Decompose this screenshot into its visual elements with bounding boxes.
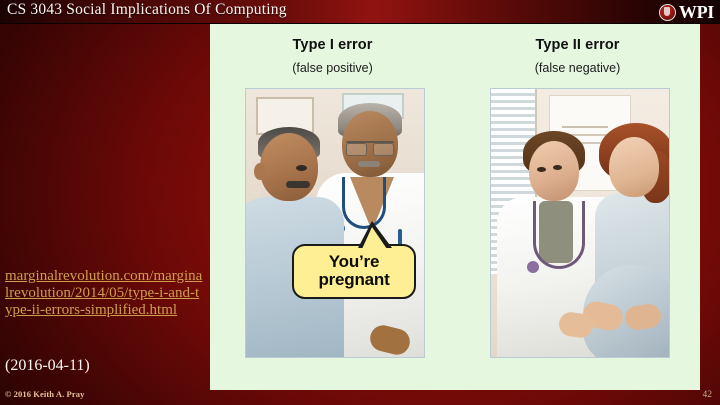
doctor-eye	[553, 165, 562, 170]
patient-ear	[254, 163, 266, 180]
column-subtitle: (false negative)	[455, 61, 700, 75]
photo-type-ii-error: You’re not pregnant	[490, 88, 670, 358]
copyright-notice: © 2016 Keith A. Pray	[5, 389, 84, 399]
slide: CS 3043 Social Implications Of Computing…	[0, 0, 720, 405]
source-date: (2016-04-11)	[5, 357, 90, 375]
patient-head	[609, 137, 659, 197]
column-subtitle: (false positive)	[210, 61, 455, 75]
patient-head	[260, 133, 318, 201]
source-link[interactable]: marginalrevolution.com/marginalrevolutio…	[5, 268, 205, 320]
wpi-logo-text: WPI	[679, 3, 714, 21]
wpi-seal-icon	[659, 4, 676, 21]
patient-eye	[296, 165, 307, 171]
doctor-head	[529, 141, 579, 201]
stethoscope-bell-icon	[527, 261, 539, 273]
content-panel: Type I error (false positive)	[210, 24, 700, 390]
patient-mustache	[286, 181, 310, 188]
column-title: Type I error	[210, 37, 455, 53]
page-number: 42	[703, 390, 713, 400]
column-type-i-error: Type I error (false positive)	[210, 24, 455, 390]
speech-bubble-text: You’re pregnant	[318, 252, 389, 289]
slide-header: CS 3043 Social Implications Of Computing…	[0, 0, 720, 24]
doctor-eye	[537, 167, 546, 172]
pen-icon	[398, 229, 402, 245]
speech-bubble-false-positive: You’re pregnant	[292, 244, 416, 299]
doctor-mustache	[358, 161, 380, 167]
stethoscope-icon	[533, 201, 585, 269]
wpi-logo: WPI	[659, 1, 714, 23]
column-title: Type II error	[455, 37, 700, 53]
page-title: CS 3043 Social Implications Of Computing	[7, 1, 287, 19]
column-type-ii-error: Type II error (false negative)	[455, 24, 700, 390]
glasses-icon	[346, 141, 394, 153]
speech-bubble-tail-icon	[358, 221, 392, 248]
photo-type-i-error: You’re pregnant	[245, 88, 425, 358]
